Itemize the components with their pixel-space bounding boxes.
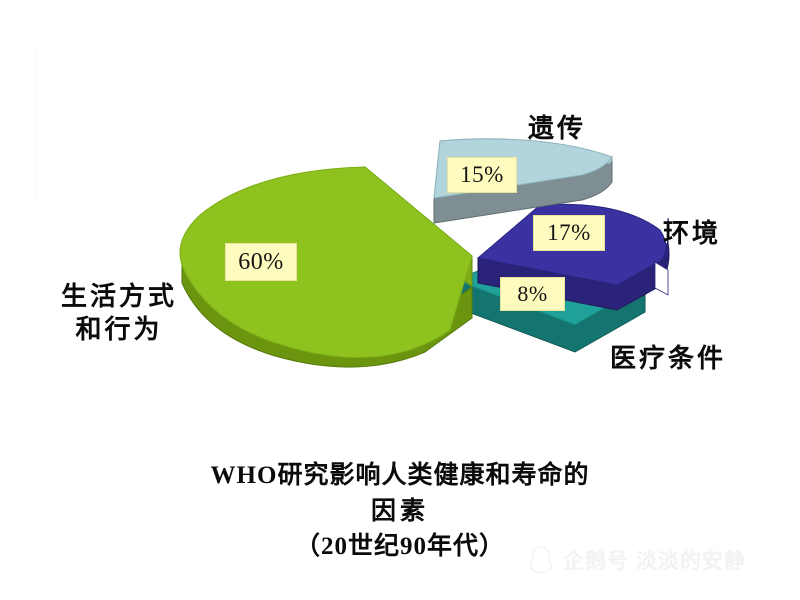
percent-label-environment: 17%	[533, 215, 605, 251]
percent-label-heredity: 15%	[447, 157, 517, 193]
penguin-icon	[528, 545, 554, 575]
percent-label-medical: 8%	[500, 277, 565, 311]
percent-label-lifestyle: 60%	[225, 243, 297, 281]
chart-title-line-2: 因素	[0, 494, 800, 530]
category-label-medical: 医疗条件	[610, 343, 726, 376]
chart-canvas: 60% 15% 17% 8% 生活方式 和行为 遗传 环境 医疗条件 WHO研究…	[0, 0, 800, 600]
category-label-environment: 环境	[663, 218, 721, 251]
category-label-lifestyle: 生活方式 和行为	[44, 281, 194, 346]
slice-lifestyle	[180, 167, 472, 367]
watermark-text: 企鹅号 淡淡的安静	[563, 545, 746, 575]
watermark: 企鹅号 淡淡的安静	[528, 545, 746, 575]
category-label-heredity: 遗传	[528, 113, 586, 146]
chart-title-line-1: WHO研究影响人类健康和寿命的	[0, 458, 800, 494]
